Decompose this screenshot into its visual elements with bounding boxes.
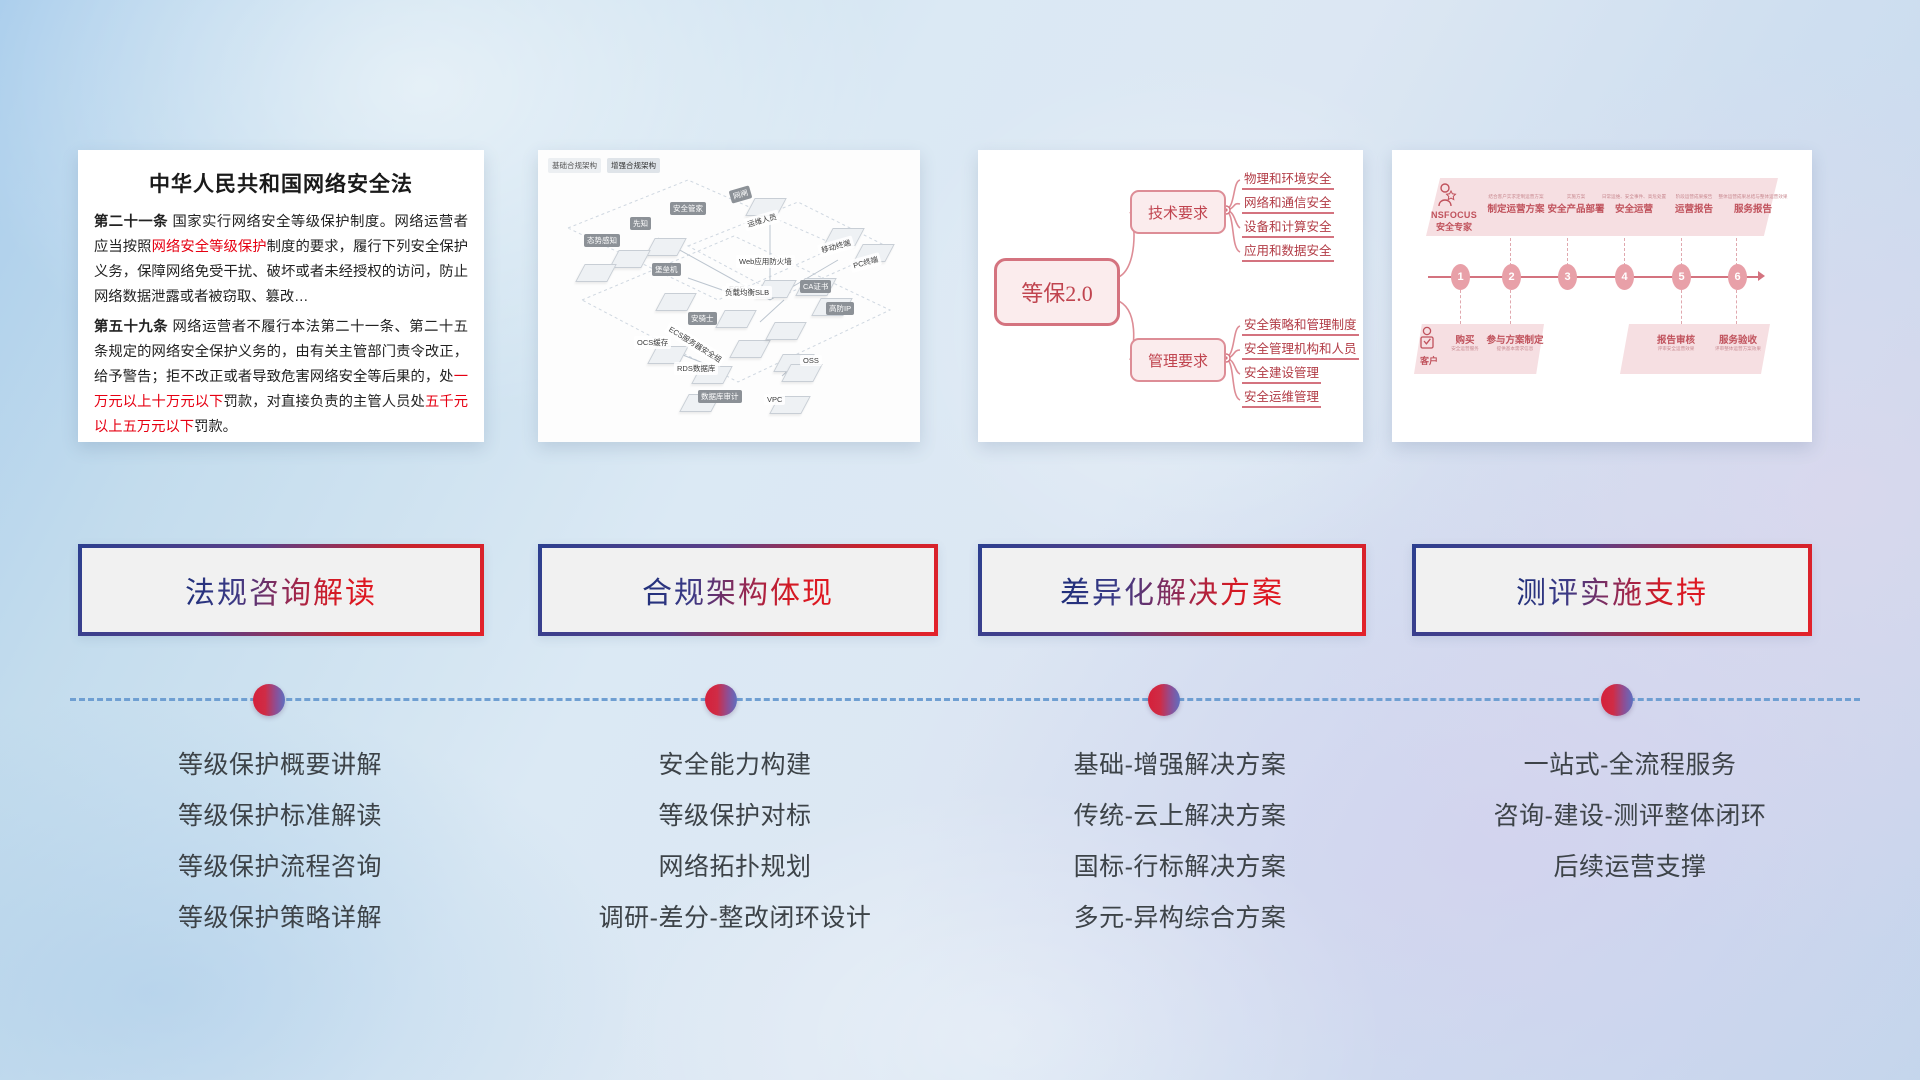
nsfocus-bottom-step: 参与方案制定 提供基本需求信息 [1484, 332, 1546, 353]
expert-name-block: NSFOCUS 安全专家 [1422, 210, 1486, 233]
arch-node-label: 高防IP [826, 302, 854, 315]
detail-column-1: 等级保护概要讲解 等级保护标准解读 等级保护流程咨询 等级保护策略详解 [60, 740, 500, 944]
architecture-diagram: 基础合规架构 增强合规架构 [538, 150, 920, 442]
step-caption: 服务验收 [1704, 332, 1772, 346]
timeline-strip [0, 680, 1920, 720]
detail-item: 多元-异构综合方案 [960, 893, 1400, 944]
nsfocus-tick [1510, 238, 1512, 266]
detail-item: 等级保护流程咨询 [60, 842, 500, 893]
nsfocus-tick [1460, 290, 1462, 324]
law-paragraph-59: 第五十九条 网络运营者不履行本法第二十一条、第二十五条规定的网络安全保护义务的，… [94, 315, 468, 440]
mindmap-leaf: 物理和环境安全 [1242, 168, 1334, 190]
card-cybersecurity-law: 中华人民共和国网络安全法 第二十一条 国家实行网络安全等级保护制度。网络运营者应… [78, 150, 484, 442]
mindmap-leaf: 安全建设管理 [1242, 362, 1321, 384]
mindmap-leaf: 安全管理机构和人员 [1242, 338, 1359, 360]
step-subtitle: 安全运营服务 [1444, 346, 1486, 352]
detail-item: 网络拓扑规划 [515, 842, 955, 893]
detail-item: 等级保护标准解读 [60, 791, 500, 842]
law-title: 中华人民共和国网络安全法 [94, 168, 468, 198]
detail-item: 咨询-建设-测评整体闭环 [1400, 791, 1860, 842]
section-title-box-4[interactable]: 测评实施支持 [1412, 544, 1812, 636]
law-run: 罚款。 [194, 419, 237, 435]
nsfocus-bottom-step: 报告审核 评审安全运营效果 [1642, 332, 1710, 353]
nsfocus-step-dot: 2 [1502, 264, 1521, 290]
mindmap-root-node: 等保2.0 [994, 258, 1120, 326]
section-title-box-2[interactable]: 合规架构体现 [538, 544, 938, 636]
section-title-box-1[interactable]: 法规咨询解读 [78, 544, 484, 636]
detail-item: 基础-增强解决方案 [960, 740, 1400, 791]
law-article-label-59: 第五十九条 [94, 319, 168, 335]
arch-node-label: 态势感知 [584, 234, 620, 247]
nsfocus-tick [1567, 238, 1569, 266]
timeline-dashed-line [70, 698, 1860, 701]
law-run: 罚款，对直接负责的主管人员处 [224, 394, 425, 410]
step-caption: 报告审核 [1642, 332, 1710, 346]
expert-brand: NSFOCUS [1422, 210, 1486, 220]
expert-avatar-icon [1436, 182, 1458, 213]
nsfocus-step-dot: 5 [1672, 264, 1691, 290]
arch-node-label: VPC [764, 394, 785, 405]
arch-node-label: 安全管家 [670, 202, 706, 215]
step-subtitle: 整体运营成果总结与整体运营效果 [1714, 194, 1792, 200]
mindmap-leaf: 设备和计算安全 [1242, 216, 1334, 238]
step-subtitle: 提供基本需求信息 [1484, 346, 1546, 352]
timeline-node-2[interactable] [705, 684, 737, 716]
step-caption: 服务报告 [1714, 201, 1792, 215]
nsfocus-timeline: NSFOCUS 安全专家 结合客户实求定制运营方案 制定运营方案 实施方案 安全… [1392, 150, 1812, 442]
arch-node-label: RDS数据库 [674, 362, 718, 375]
section-title-row: 法规咨询解读 合规架构体现 差异化解决方案 测评实施支持 [0, 544, 1920, 640]
step-subtitle: 评审安全运营效果 [1642, 346, 1710, 352]
detail-column-3: 基础-增强解决方案 传统-云上解决方案 国标-行标解决方案 多元-异构综合方案 [960, 740, 1400, 944]
nsfocus-step-dot: 3 [1558, 264, 1577, 290]
step-caption: 参与方案制定 [1484, 332, 1546, 346]
customer-avatar-icon [1418, 326, 1438, 357]
detail-item: 等级保护对标 [515, 791, 955, 842]
step-subtitle: 评审整体运营方案效果 [1704, 346, 1772, 352]
card-nsfocus-service-timeline: NSFOCUS 安全专家 结合客户实求定制运营方案 制定运营方案 实施方案 安全… [1392, 150, 1812, 442]
timeline-node-1[interactable] [253, 684, 285, 716]
arch-node-label: 先知 [630, 217, 651, 230]
illustration-card-row: 中华人民共和国网络安全法 第二十一条 国家实行网络安全等级保护制度。网络运营者应… [0, 150, 1920, 442]
section-title-label: 合规架构体现 [642, 568, 834, 612]
expert-role: 安全专家 [1422, 220, 1486, 233]
nsfocus-tick [1736, 238, 1738, 266]
nsfocus-tick [1681, 238, 1683, 266]
section-title-label: 差异化解决方案 [1060, 568, 1284, 612]
arch-node-label: OCS缓存 [634, 336, 671, 349]
law-paragraph-21: 第二十一条 国家实行网络安全等级保护制度。网络运营者应当按照网络安全等级保护制度… [94, 210, 468, 310]
mindmap-leaf: 安全运维管理 [1242, 386, 1321, 408]
nsfocus-axis-arrow-icon [1758, 271, 1765, 281]
timeline-node-3[interactable] [1148, 684, 1180, 716]
arch-node-label: Web应用防火墙 [736, 255, 795, 268]
detail-item: 传统-云上解决方案 [960, 791, 1400, 842]
detail-item: 调研-差分-整改闭环设计 [515, 893, 955, 944]
section-title-label: 法规咨询解读 [185, 568, 377, 612]
arch-node-label: OSS [800, 355, 822, 366]
mindmap-leaf: 安全策略和管理制度 [1242, 314, 1359, 336]
nsfocus-axis-line [1428, 276, 1760, 278]
nsfocus-bottom-step: 购买 安全运营服务 [1444, 332, 1486, 353]
nsfocus-top-step: 整体运营成果总结与整体运营效果 服务报告 [1714, 194, 1792, 215]
law-run-highlight: 网络安全等级保护 [152, 239, 267, 255]
nsfocus-tick [1624, 238, 1626, 266]
nsfocus-step-dot: 1 [1451, 264, 1470, 290]
mindmap-leaf: 网络和通信安全 [1242, 192, 1334, 214]
detail-item: 国标-行标解决方案 [960, 842, 1400, 893]
card-djcp-mindmap: 等保2.0 技术要求 管理要求 物理和环境安全 网络和通信安全 设备和计算安全 … [978, 150, 1363, 442]
nsfocus-tick [1681, 290, 1683, 324]
detail-item: 等级保护策略详解 [60, 893, 500, 944]
arch-node-label: 安骑士 [688, 312, 717, 325]
section-title-box-3[interactable]: 差异化解决方案 [978, 544, 1366, 636]
detail-column-2: 安全能力构建 等级保护对标 网络拓扑规划 调研-差分-整改闭环设计 [515, 740, 955, 944]
arch-node-label: 负载均衡SLB [722, 286, 772, 299]
mindmap: 等保2.0 技术要求 管理要求 物理和环境安全 网络和通信安全 设备和计算安全 … [978, 150, 1363, 442]
law-article-label-21: 第二十一条 [94, 214, 168, 230]
section-detail-columns: 等级保护概要讲解 等级保护标准解读 等级保护流程咨询 等级保护策略详解 安全能力… [0, 740, 1920, 960]
nsfocus-tick [1736, 290, 1738, 324]
mindmap-branch-management: 管理要求 [1130, 338, 1226, 382]
step-caption: 购买 [1444, 332, 1486, 346]
timeline-node-4[interactable] [1601, 684, 1633, 716]
detail-item: 等级保护概要讲解 [60, 740, 500, 791]
nsfocus-bottom-step: 服务验收 评审整体运营方案效果 [1704, 332, 1772, 353]
nsfocus-step-dot: 4 [1615, 264, 1634, 290]
nsfocus-tick [1510, 290, 1512, 324]
card-compliance-architecture: 基础合规架构 增强合规架构 [538, 150, 920, 442]
arch-node-label: 数据库审计 [698, 390, 742, 403]
mindmap-branch-technical: 技术要求 [1130, 190, 1226, 234]
nsfocus-step-dot: 6 [1728, 264, 1747, 290]
detail-column-4: 一站式-全流程服务 咨询-建设-测评整体闭环 后续运营支撑 [1400, 740, 1860, 893]
detail-item: 后续运营支撑 [1400, 842, 1860, 893]
detail-item: 一站式-全流程服务 [1400, 740, 1860, 791]
section-title-label: 测评实施支持 [1516, 568, 1708, 612]
law-document: 中华人民共和国网络安全法 第二十一条 国家实行网络安全等级保护制度。网络运营者应… [78, 150, 484, 442]
arch-node-label: CA证书 [800, 280, 831, 293]
detail-item: 安全能力构建 [515, 740, 955, 791]
slide-content: 中华人民共和国网络安全法 第二十一条 国家实行网络安全等级保护制度。网络运营者应… [0, 0, 1920, 1080]
mindmap-leaf: 应用和数据安全 [1242, 240, 1334, 262]
customer-role: 客户 [1414, 354, 1444, 367]
arch-node-label: 堡垒机 [652, 263, 681, 276]
